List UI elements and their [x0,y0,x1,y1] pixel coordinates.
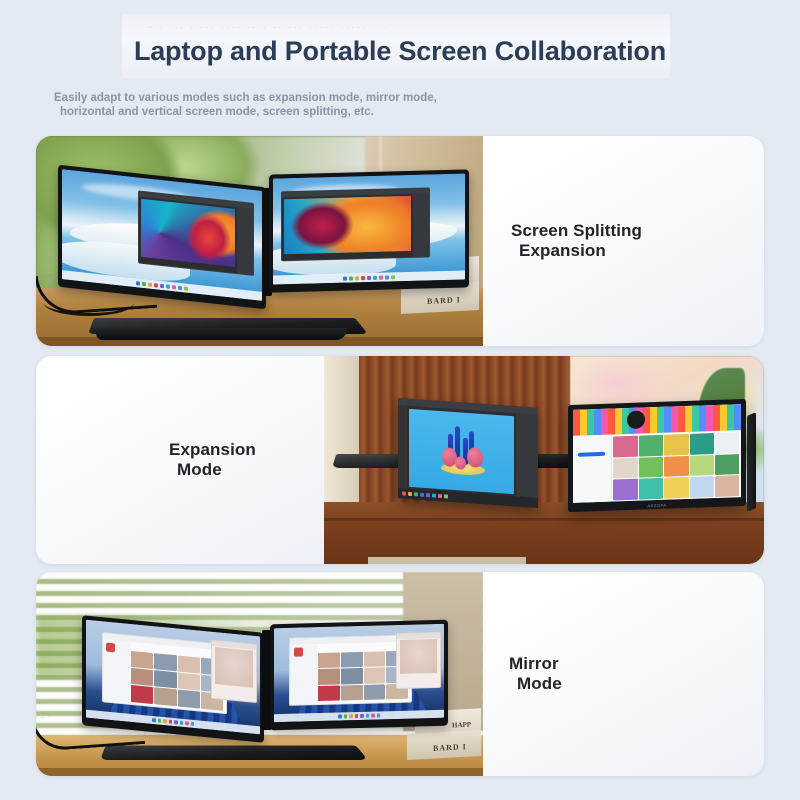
photo-thumbnail[interactable] [178,655,200,673]
floating-preview-window[interactable] [211,640,256,703]
page-title: Laptop and Portable Screen Collaboration [0,36,800,67]
profile-avatar [627,410,645,429]
photo-thumbnail[interactable] [154,688,176,706]
photo-thumbnail[interactable] [318,685,340,701]
photo-mirror-mode: HAPP BARD I [36,572,483,776]
grid-thumbnail[interactable] [664,456,688,478]
photo-thumbnail[interactable] [364,684,386,700]
page-subtitle-line-1: Easily adapt to various modes such as ex… [54,92,437,104]
desk-edge [324,518,764,521]
mode-label-line-2: Expansion [511,241,642,261]
software-toolbar-left [398,405,407,489]
desk-edge [36,768,483,776]
page-subtitle: Easily adapt to various modes such as ex… [54,91,674,119]
portable-monitor-lid [270,620,448,731]
grid-thumbnail[interactable] [613,436,637,458]
photo-thumbnail[interactable] [318,652,340,668]
wall-light-panel [324,356,359,506]
preview-image [215,647,252,687]
photo-thumbnail[interactable] [341,685,363,701]
portable-monitor-screen [573,404,741,503]
photo-thumbnail[interactable] [131,668,153,686]
product-box-label-bottom: BARD I [433,742,467,753]
laptop-foot [95,328,348,340]
grid-thumbnail[interactable] [639,456,663,478]
mode-label-line-2: Mode [509,674,562,694]
photo-thumbnail[interactable] [178,673,200,691]
floating-preview-window[interactable] [396,631,440,689]
photos-app-window [102,632,227,715]
feature-card-mirror-mode[interactable]: HAPP BARD I [36,572,764,776]
monitor-kickstand [747,412,756,512]
mode-label-expansion-mode: Expansion Mode [169,440,256,480]
grid-thumbnail[interactable] [664,477,688,499]
mode-label-line-1: Mirror [509,654,559,673]
grid-thumbnail[interactable] [715,454,739,476]
portable-monitor-screen [273,173,465,284]
windows11-desktop-mirrored [274,624,444,722]
laptop-keyboard-base [100,746,368,760]
photo-thumbnail[interactable] [341,668,363,684]
mode-label-line-1: Screen Splitting [511,221,642,240]
photo-grid [318,650,408,701]
preview-image [400,638,436,673]
tool-panel [413,193,429,256]
abstract-artwork [141,199,235,267]
photo-screen-splitting-expansion: HAPP BARD I [36,136,483,346]
mode-label-screen-splitting-expansion: Screen Splitting Expansion [511,221,642,261]
photo-expansion-mode: ARZOPA [324,356,764,564]
app-avatar [294,648,303,657]
desk-drawer [368,557,526,564]
ghost-background-text: ~ · ··· · ··· ···· ···· ·· ··· ····· ···… [148,24,648,36]
wooden-desk [324,502,764,564]
grid-thumbnail[interactable] [639,435,663,457]
photo-editor-window [281,187,431,261]
feature-card-expansion-mode[interactable]: Expansion Mode [36,356,764,564]
toy-gallery-website [573,404,741,503]
photo-thumbnail[interactable] [364,668,386,684]
grid-thumbnail[interactable] [690,433,714,455]
sidebar-filters [573,435,612,503]
grid-thumbnail[interactable] [639,478,663,500]
usb-c-cable-secondary [44,290,134,316]
label-pane-expansion-mode: Expansion Mode [36,356,324,564]
monitor-brand-logo: ARZOPA [647,503,666,509]
photo-thumbnail[interactable] [318,669,340,685]
product-box-label-top: HAPP [452,721,471,730]
grid-thumbnail[interactable] [715,432,739,454]
laptop-screen-lid [398,398,538,508]
grid-thumbnail[interactable] [690,476,714,498]
photo-thumbnail[interactable] [154,670,176,688]
photo-editor-window [138,191,254,276]
page-subtitle-line-2: horizontal and vertical screen mode, scr… [54,105,674,119]
photo-thumbnail[interactable] [154,653,176,671]
portable-monitor: ARZOPA [568,399,746,512]
label-pane-screen-splitting-expansion: Screen Splitting Expansion [483,136,764,346]
image-grid [613,432,739,501]
photo-thumbnail[interactable] [131,685,153,703]
grid-thumbnail[interactable] [613,457,637,479]
portable-monitor-screen [274,624,444,722]
photo-grid [131,651,223,711]
portable-monitor-lid [269,169,469,292]
3d-design-software-ui [398,398,538,508]
label-pane-mirror-mode: Mirror Mode [483,572,764,776]
coral-blob [467,447,483,468]
grid-thumbnail[interactable] [715,475,739,497]
photo-thumbnail[interactable] [131,651,153,669]
mode-label-mirror-mode: Mirror Mode [509,654,562,694]
hero-banner [573,404,741,436]
app-avatar [106,642,115,652]
photo-thumbnail[interactable] [364,651,386,667]
product-box-label-bottom: BARD I [427,295,461,306]
feature-card-screen-splitting-expansion[interactable]: HAPP BARD I [36,136,764,346]
grid-thumbnail[interactable] [690,455,714,477]
photos-app-window [289,635,411,706]
photo-thumbnail[interactable] [341,652,363,668]
grid-thumbnail[interactable] [613,479,637,501]
software-canvas [409,409,514,494]
3d-coral-model [441,428,485,479]
tool-panel [237,207,253,274]
mode-label-line-1: Expansion [169,440,256,459]
mode-label-line-2: Mode [169,460,256,480]
grid-thumbnail[interactable] [664,434,688,456]
abstract-artwork [284,196,412,254]
photo-thumbnail[interactable] [178,690,200,708]
software-panel-right [516,413,538,498]
